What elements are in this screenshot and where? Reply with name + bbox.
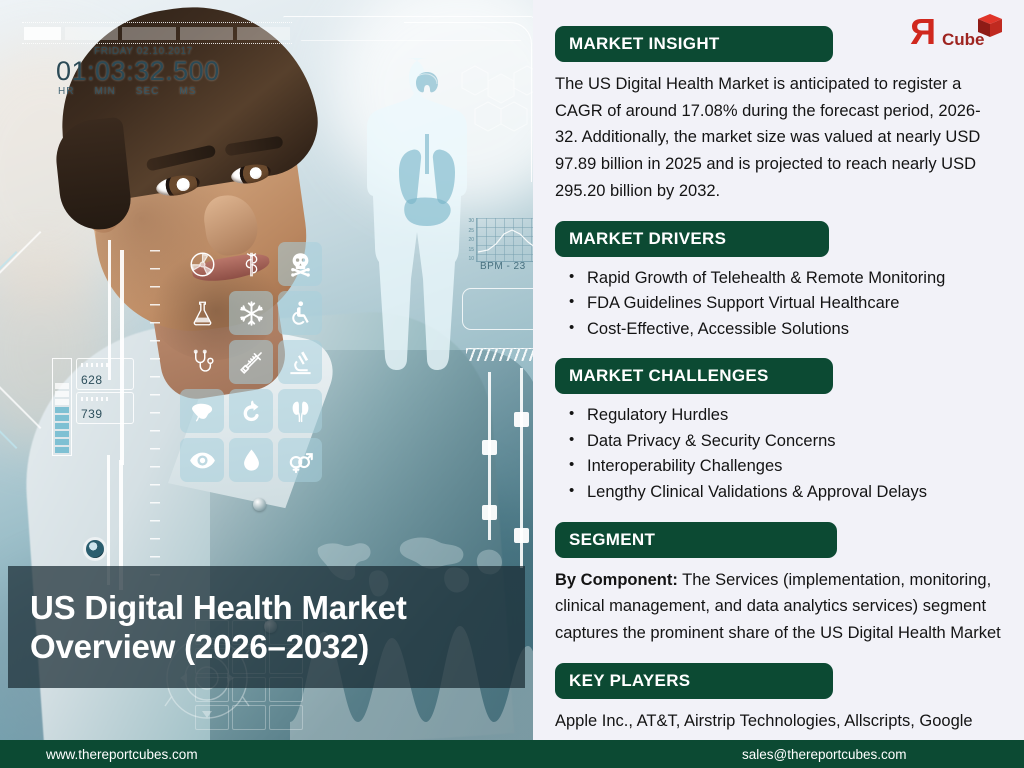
bpm-tick: 25 [468, 228, 474, 234]
hud-timer-date: FRIDAY 02.10.2017 [94, 46, 220, 57]
blood-drop-icon [229, 438, 273, 482]
hud-readout-2-value: 739 [81, 407, 103, 421]
hero-title-band: US Digital Health Market Overview (2026–… [8, 566, 525, 688]
footer-bar: www.thereportcubes.com sales@thereportcu… [0, 740, 1024, 768]
brand-logo[interactable]: R Cube [910, 10, 1006, 54]
hud-slider-knob [482, 505, 497, 520]
heading-market-drivers: MARKET DRIVERS [555, 221, 829, 257]
gender-symbols-icon [278, 438, 322, 482]
hud-unit-hr: HR [58, 86, 74, 97]
hud-timer-value: 01:03:32.500 [56, 57, 220, 85]
hud-level-gauge [52, 358, 72, 456]
eye-icon [180, 438, 224, 482]
hud-timer: FRIDAY 02.10.2017 01:03:32.500 HR MIN SE… [56, 46, 220, 97]
list-item: FDA Guidelines Support Virtual Healthcar… [585, 291, 1002, 317]
syringe-icon [229, 340, 273, 384]
list-item: Cost-Effective, Accessible Solutions [585, 317, 1002, 343]
list-item: Interoperability Challenges [585, 454, 1002, 480]
liver-icon [180, 389, 224, 433]
hud-unit-min: MIN [94, 86, 115, 97]
section-market-challenges: MARKET CHALLENGES Regulatory Hurdles Dat… [555, 358, 1002, 505]
medical-icon-grid [180, 242, 322, 482]
radiation-icon [180, 242, 224, 286]
list-item: Data Privacy & Security Concerns [585, 429, 1002, 455]
hero-image: FRIDAY 02.10.2017 01:03:32.500 HR MIN SE… [0, 0, 533, 740]
bpm-waveform [476, 218, 533, 262]
hud-tick-scale [150, 250, 160, 580]
market-drivers-list: Rapid Growth of Telehealth & Remote Moni… [555, 266, 1002, 343]
heading-market-challenges: MARKET CHALLENGES [555, 358, 833, 394]
heading-market-insight: MARKET INSIGHT [555, 26, 833, 62]
red-cube-icon [976, 12, 1004, 40]
bpm-tick: 30 [468, 218, 474, 224]
hud-slider-knob [514, 412, 529, 427]
hud-lens-icon [86, 540, 104, 558]
kidneys-icon [278, 389, 322, 433]
hud-top-segment-bar [22, 22, 292, 44]
hud-vertical-bar [108, 240, 111, 380]
market-challenges-list: Regulatory Hurdles Data Privacy & Securi… [555, 403, 1002, 505]
caduceus-icon [229, 242, 273, 286]
infographic-page: FRIDAY 02.10.2017 01:03:32.500 HR MIN SE… [0, 0, 1024, 768]
wheelchair-icon [278, 291, 322, 335]
stethoscope-icon [180, 340, 224, 384]
page-title: US Digital Health Market Overview (2026–… [30, 588, 503, 667]
bpm-axis-labels: 30 25 20 15 10 [458, 218, 474, 262]
hud-timer-units: HR MIN SEC MS [58, 86, 220, 97]
hud-hatch-bar [466, 348, 533, 361]
market-insight-text: The US Digital Health Market is anticipa… [555, 71, 1002, 205]
hud-readout-1-value: 628 [81, 373, 103, 387]
content-panel: R Cube MARKET INSIGHT The US Digital Hea… [533, 0, 1024, 740]
list-item: Rapid Growth of Telehealth & Remote Moni… [585, 266, 1002, 292]
bpm-tick: 10 [468, 256, 474, 262]
bpm-tick: 15 [468, 247, 474, 253]
hud-readout-628: 628 [76, 358, 134, 390]
hud-unit-ms: MS [179, 86, 196, 97]
hud-readout-739: 739 [76, 392, 134, 424]
footer-email[interactable]: sales@thereportcubes.com [742, 747, 907, 762]
microscope-icon [278, 340, 322, 384]
bpm-monitor-panel: 30 25 20 15 10 BPM - 23 [458, 218, 533, 276]
list-item: Regulatory Hurdles [585, 403, 1002, 429]
heading-segment: SEGMENT [555, 522, 837, 558]
bpm-label: BPM - 23 [480, 261, 526, 272]
segment-text: By Component: The Services (implementati… [555, 567, 1002, 647]
hud-slider-knob [482, 440, 497, 455]
segment-lead-label: By Component: [555, 571, 678, 589]
hud-vertical-bar [120, 250, 124, 465]
footer-website[interactable]: www.thereportcubes.com [46, 747, 198, 762]
hexagon-network-pattern [455, 60, 533, 150]
heading-key-players: KEY PLAYERS [555, 663, 833, 699]
snowflake-icon [229, 291, 273, 335]
hud-rounded-box [462, 288, 533, 330]
flask-icon [180, 291, 224, 335]
skull-crossbones-icon [278, 242, 322, 286]
stomach-icon [229, 389, 273, 433]
reversed-r-icon: R [910, 14, 936, 50]
section-segment: SEGMENT By Component: The Services (impl… [555, 522, 1002, 647]
bpm-tick: 20 [468, 237, 474, 243]
list-item: Lengthy Clinical Validations & Approval … [585, 480, 1002, 506]
section-market-drivers: MARKET DRIVERS Rapid Growth of Telehealt… [555, 221, 1002, 343]
hud-unit-sec: SEC [136, 86, 160, 97]
